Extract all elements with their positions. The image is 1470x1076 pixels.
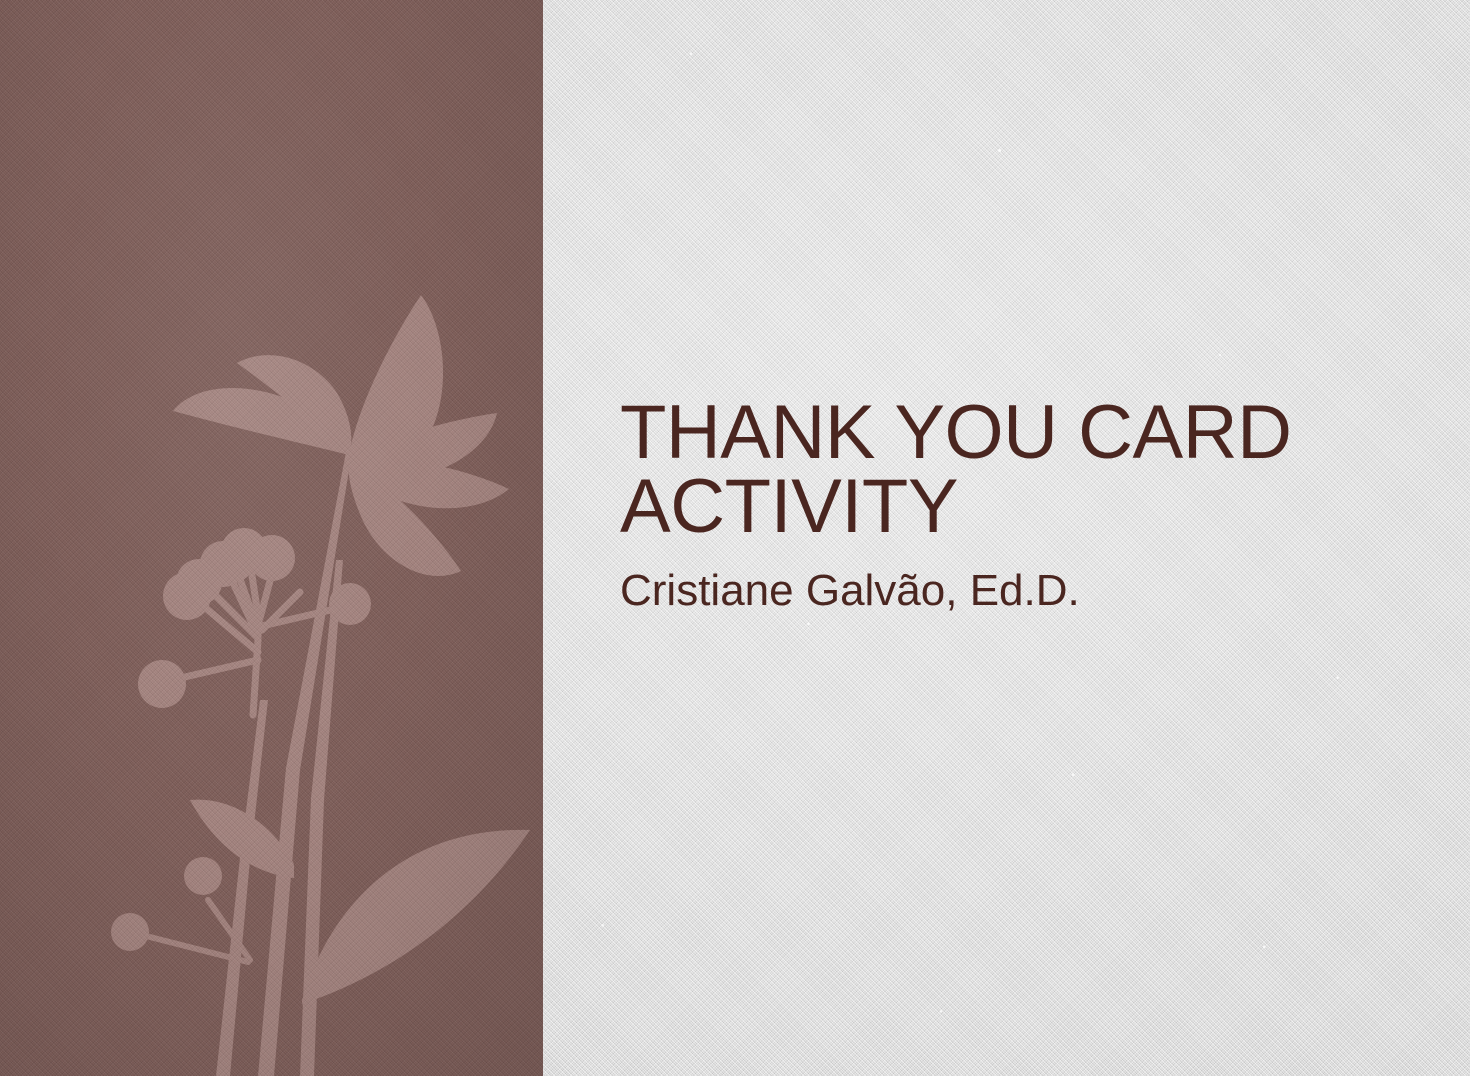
berry-8: [329, 583, 371, 625]
six-leaf-cluster: [173, 295, 509, 576]
berry-7: [249, 535, 295, 581]
title-text-block: Thank You Card Activity Cristiane Galvão…: [620, 396, 1380, 615]
small-bud-group: [111, 857, 250, 962]
decorative-left-panel: [0, 0, 543, 1076]
botanical-motif-artwork: [0, 0, 543, 1076]
small-bud-2: [111, 913, 149, 951]
presentation-slide: Thank You Card Activity Cristiane Galvão…: [0, 0, 1470, 1076]
slide-subtitle: Cristiane Galvão, Ed.D.: [620, 555, 1380, 615]
lower-leaf-right: [302, 830, 530, 1004]
small-bud-1: [184, 857, 222, 895]
page-title: Thank You Card Activity: [620, 396, 1380, 545]
tertiary-stem: [216, 700, 268, 1076]
berry-2: [138, 660, 186, 708]
